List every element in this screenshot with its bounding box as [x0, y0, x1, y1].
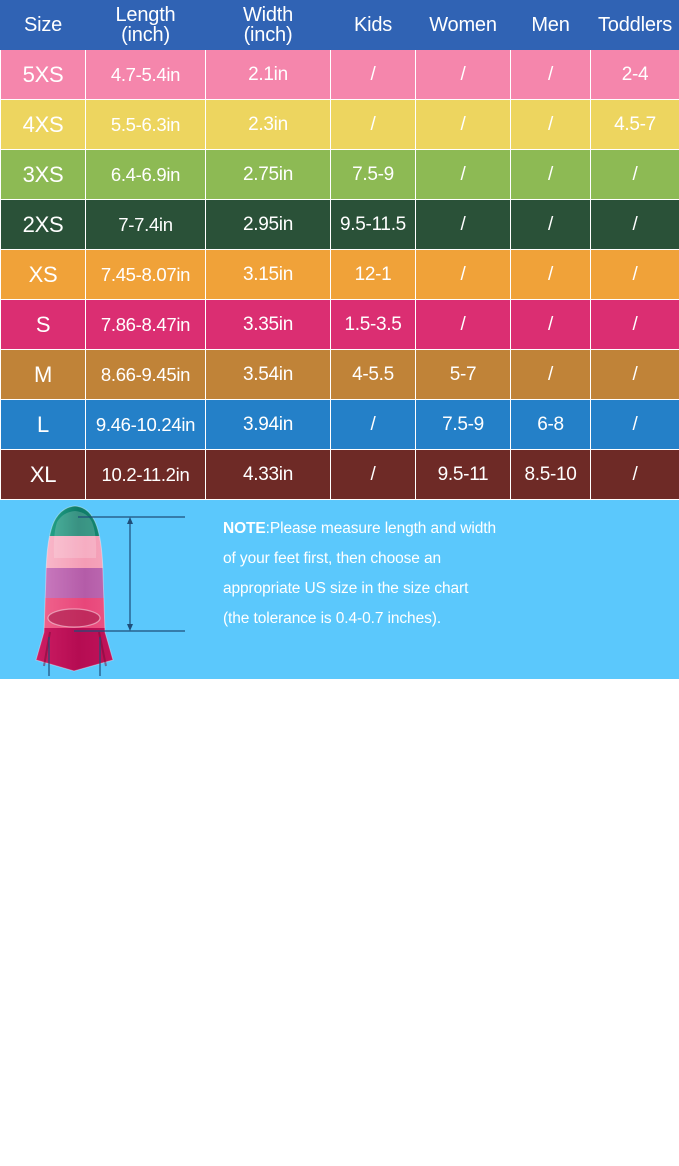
table-header: Size Length (inch) Width (inch) Kids Wom…	[1, 1, 679, 50]
cell-kids: 1.5-3.5	[331, 300, 416, 350]
fin-illustration: Length -Width-	[0, 500, 215, 679]
table-row: 4XS5.5-6.3in2.3in///4.5-7	[1, 100, 679, 150]
cell-kids: 9.5-11.5	[331, 200, 416, 250]
cell-kids: 4-5.5	[331, 350, 416, 400]
cell-men: /	[511, 200, 591, 250]
header-sub: (inch)	[86, 25, 205, 45]
width-dimension-label: -Width-	[77, 1151, 120, 1166]
cell-toddlers: /	[591, 300, 679, 350]
cell-length: 4.7-5.4in	[86, 50, 206, 100]
table-row: XL10.2-11.2in4.33in/9.5-118.5-10/	[1, 450, 679, 500]
header-sub: (inch)	[206, 25, 330, 45]
table-row: 5XS4.7-5.4in2.1in///2-4	[1, 50, 679, 100]
cell-men: 8.5-10	[511, 450, 591, 500]
column-header-width: Width (inch)	[206, 1, 331, 50]
note-text: NOTE:Please measure length and width of …	[215, 500, 679, 679]
header-main: Kids	[354, 14, 392, 36]
cell-kids: /	[331, 400, 416, 450]
cell-women: 7.5-9	[416, 400, 511, 450]
header-main: Women	[429, 14, 497, 36]
length-arrow-head-bottom	[127, 624, 133, 631]
cell-width: 2.75in	[206, 150, 331, 200]
cell-men: /	[511, 50, 591, 100]
cell-toddlers: 4.5-7	[591, 100, 679, 150]
cell-width: 2.3in	[206, 100, 331, 150]
cell-width: 3.15in	[206, 250, 331, 300]
cell-women: /	[416, 300, 511, 350]
cell-women: /	[416, 50, 511, 100]
cell-toddlers: 2-4	[591, 50, 679, 100]
cell-kids: /	[331, 100, 416, 150]
cell-women: 5-7	[416, 350, 511, 400]
cell-size: L	[1, 400, 86, 450]
note-line-4: (the tolerance is 0.4-0.7 inches).	[223, 604, 667, 634]
cell-women: /	[416, 200, 511, 250]
cell-width: 4.33in	[206, 450, 331, 500]
fin-heel-opening	[48, 609, 100, 627]
header-main: Men	[531, 14, 569, 36]
note-line-2: of your feet first, then choose an	[223, 544, 667, 574]
cell-length: 8.66-9.45in	[86, 350, 206, 400]
cell-women: /	[416, 250, 511, 300]
cell-size: 2XS	[1, 200, 86, 250]
cell-toddlers: /	[591, 450, 679, 500]
cell-length: 7.45-8.07in	[86, 250, 206, 300]
cell-size: XL	[1, 450, 86, 500]
cell-kids: 12-1	[331, 250, 416, 300]
note-panel: Length -Width- NOTE:Please measure lengt…	[0, 500, 679, 679]
cell-size: 3XS	[1, 150, 86, 200]
cell-kids: 7.5-9	[331, 150, 416, 200]
cell-length: 7-7.4in	[86, 200, 206, 250]
column-header-women: Women	[416, 1, 511, 50]
cell-kids: /	[331, 50, 416, 100]
cell-length: 6.4-6.9in	[86, 150, 206, 200]
cell-men: /	[511, 300, 591, 350]
table-row: XS7.45-8.07in3.15in12-1///	[1, 250, 679, 300]
cell-men: /	[511, 100, 591, 150]
note-line-1-text: Please measure length and width	[270, 520, 496, 537]
header-main: Size	[24, 14, 62, 36]
cell-men: 6-8	[511, 400, 591, 450]
column-header-men: Men	[511, 1, 591, 50]
table-row: L9.46-10.24in3.94in/7.5-96-8/	[1, 400, 679, 450]
cell-toddlers: /	[591, 350, 679, 400]
cell-size: 5XS	[1, 50, 86, 100]
cell-toddlers: /	[591, 200, 679, 250]
cell-toddlers: /	[591, 150, 679, 200]
column-header-size: Size	[1, 1, 86, 50]
cell-length: 7.86-8.47in	[86, 300, 206, 350]
column-header-toddlers: Toddlers	[591, 1, 679, 50]
cell-length: 10.2-11.2in	[86, 450, 206, 500]
note-line-3: appropriate US size in the size chart	[223, 574, 667, 604]
table-row: S7.86-8.47in3.35in1.5-3.5///	[1, 300, 679, 350]
cell-men: /	[511, 250, 591, 300]
cell-size: S	[1, 300, 86, 350]
table-row: M8.66-9.45in3.54in4-5.55-7//	[1, 350, 679, 400]
column-header-length: Length (inch)	[86, 1, 206, 50]
cell-width: 2.1in	[206, 50, 331, 100]
cell-women: 9.5-11	[416, 450, 511, 500]
cell-toddlers: /	[591, 400, 679, 450]
cell-size: M	[1, 350, 86, 400]
table-row: 2XS7-7.4in2.95in9.5-11.5///	[1, 200, 679, 250]
header-row: Size Length (inch) Width (inch) Kids Wom…	[1, 1, 679, 50]
header-main: Toddlers	[598, 14, 672, 36]
swim-fin-diagram	[0, 500, 215, 680]
length-arrow-head-top	[127, 517, 133, 524]
cell-size: XS	[1, 250, 86, 300]
note-label: NOTE	[223, 520, 266, 537]
cell-width: 2.95in	[206, 200, 331, 250]
size-chart-page: Size Length (inch) Width (inch) Kids Wom…	[0, 0, 679, 679]
note-line-1: NOTE:Please measure length and width	[223, 514, 667, 544]
size-chart-table: Size Length (inch) Width (inch) Kids Wom…	[0, 0, 679, 500]
table-body: 5XS4.7-5.4in2.1in///2-44XS5.5-6.3in2.3in…	[1, 50, 679, 500]
cell-men: /	[511, 350, 591, 400]
cell-length: 9.46-10.24in	[86, 400, 206, 450]
cell-width: 3.54in	[206, 350, 331, 400]
cell-toddlers: /	[591, 250, 679, 300]
column-header-kids: Kids	[331, 1, 416, 50]
cell-men: /	[511, 150, 591, 200]
header-main: Length	[116, 4, 176, 26]
header-main: Width	[243, 4, 293, 26]
length-dimension-label: Length	[138, 1061, 180, 1076]
table-row: 3XS6.4-6.9in2.75in7.5-9///	[1, 150, 679, 200]
cell-women: /	[416, 100, 511, 150]
cell-width: 3.35in	[206, 300, 331, 350]
cell-length: 5.5-6.3in	[86, 100, 206, 150]
cell-size: 4XS	[1, 100, 86, 150]
cell-width: 3.94in	[206, 400, 331, 450]
cell-women: /	[416, 150, 511, 200]
cell-kids: /	[331, 450, 416, 500]
